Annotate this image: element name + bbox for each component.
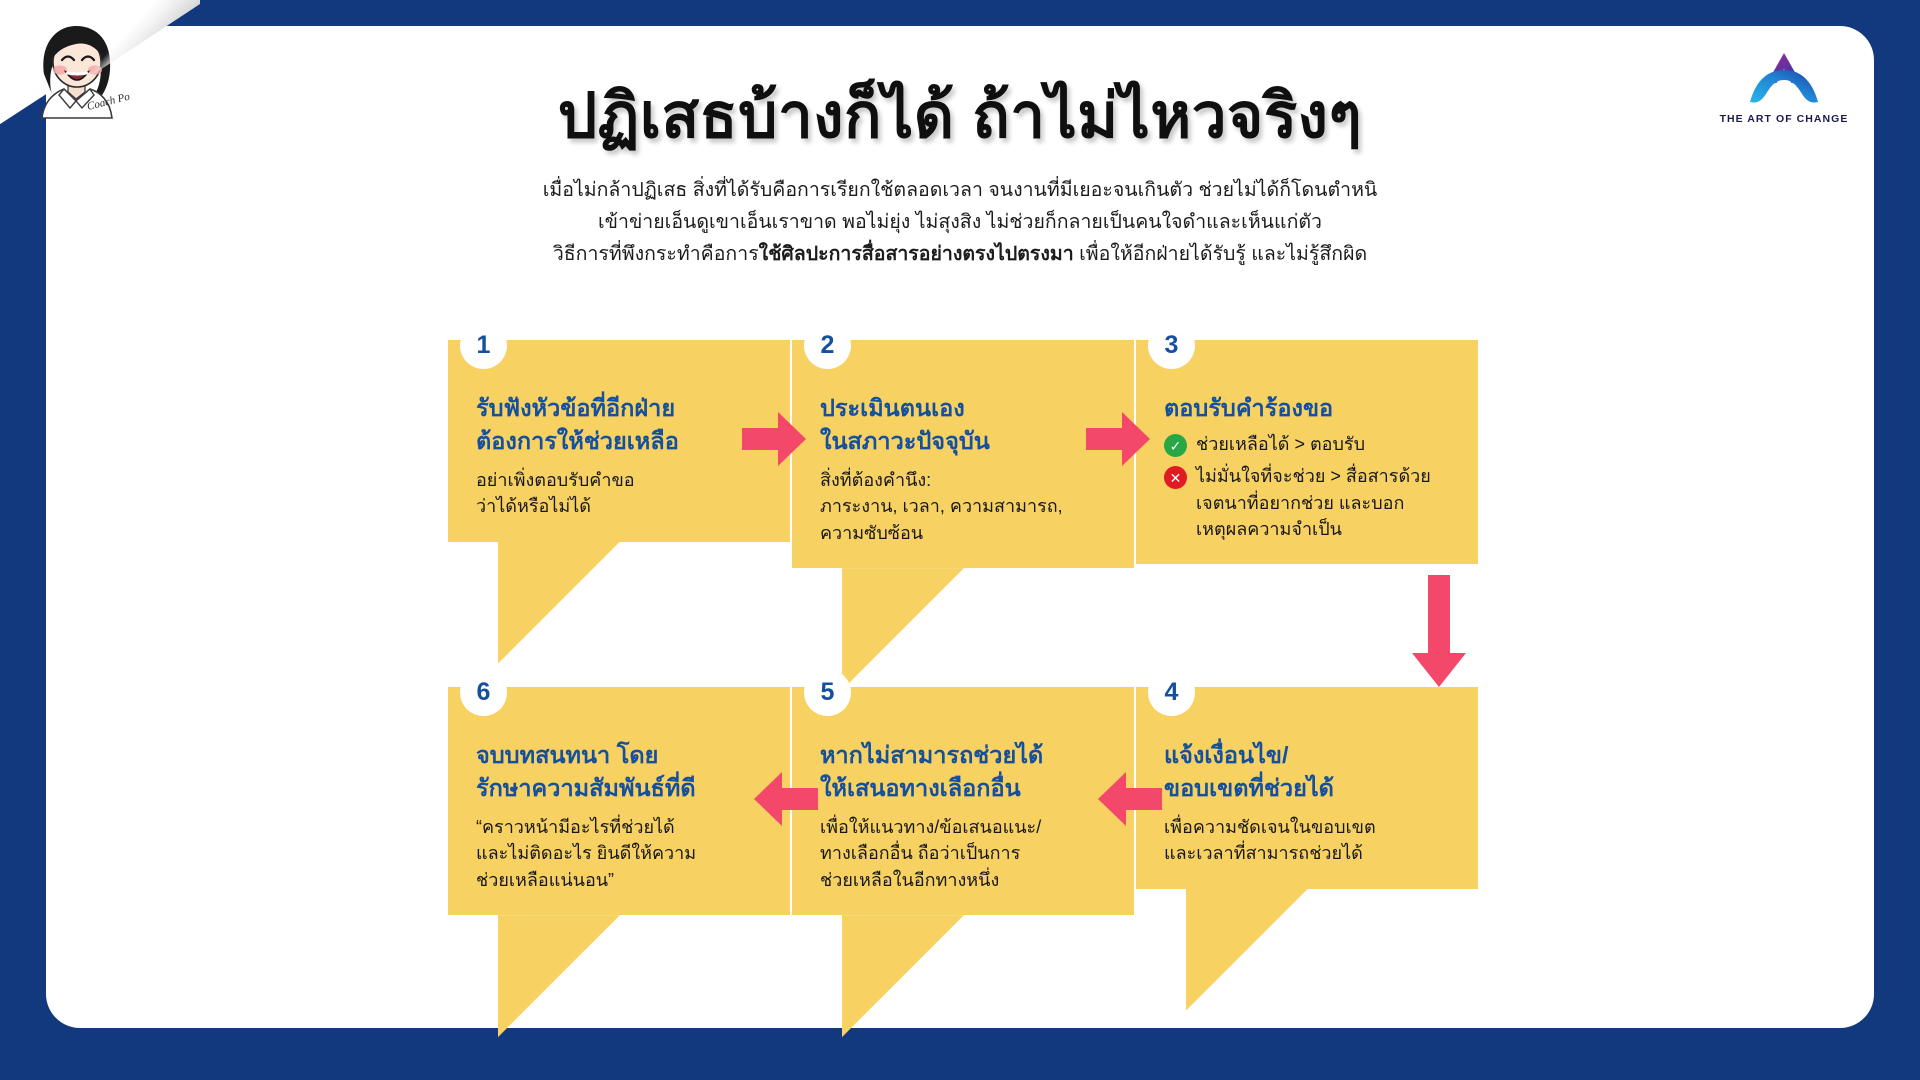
step-title-5-line-2: ให้เสนอทางเลือกอื่น [820, 772, 1110, 805]
step-title-2: ประเมินตนเอง ในสภาวะปัจจุบัน [820, 392, 1110, 459]
step-number-badge-1: 1 [460, 322, 507, 369]
step-body-5-line-2: ทางเลือกอื่น ถือว่าเป็นการ [820, 840, 1110, 866]
step-body-5-line-1: เพื่อให้แนวทาง/ข้อเสนอแนะ/ [820, 814, 1110, 840]
step-3-bullet-ok: ✓ ช่วยเหลือได้ > ตอบรับ [1164, 431, 1454, 457]
step-title-2-line-1: ประเมินตนเอง [820, 392, 1110, 425]
step-flow-diagram: 1 รับฟังหัวข้อที่อีกฝ่าย ต้องการให้ช่วยเ… [0, 0, 1920, 1080]
step-body-4-line-2: และเวลาที่สามารถช่วยได้ [1164, 840, 1454, 866]
step-title-4: แจ้งเงื่อนไข/ ขอบเขตที่ช่วยได้ [1164, 739, 1454, 806]
step-3-bullet-no-text: ไม่มั่นใจที่จะช่วย > สื่อสารด้วยเจตนาที่… [1196, 463, 1454, 541]
step-3-bullet-no: ✕ ไม่มั่นใจที่จะช่วย > สื่อสารด้วยเจตนาท… [1164, 463, 1454, 541]
step-title-1-line-2: ต้องการให้ช่วยเหลือ [476, 425, 766, 458]
coach-avatar: Coach Po [0, 0, 200, 128]
step-number-badge-5: 5 [804, 669, 851, 716]
arrow-step4-to-step5-icon [1098, 772, 1162, 826]
step-body-2-line-2: ภาระงาน, เวลา, ความสามารถ, [820, 493, 1110, 519]
speech-bubble-tail-4 [1186, 889, 1308, 1011]
step-body-2: สิ่งที่ต้องคำนึง: ภาระงาน, เวลา, ความสาม… [820, 467, 1110, 546]
step-title-3: ตอบรับคำร้องขอ [1164, 392, 1454, 425]
step-body-5: เพื่อให้แนวทาง/ข้อเสนอแนะ/ ทางเลือกอื่น … [820, 814, 1110, 893]
step-3-bullet-ok-text: ช่วยเหลือได้ > ตอบรับ [1196, 431, 1365, 457]
step-number-badge-4: 4 [1148, 669, 1195, 716]
step-title-2-line-2: ในสภาวะปัจจุบัน [820, 425, 1110, 458]
step-card-5: 5 หากไม่สามารถช่วยได้ ให้เสนอทางเลือกอื่… [792, 687, 1134, 915]
step-number-badge-2: 2 [804, 322, 851, 369]
brand-logo: THE ART OF CHANGE [1704, 50, 1864, 125]
step-body-6-line-2: และไม่ติดอะไร ยินดีให้ความ [476, 840, 766, 866]
step-title-4-line-1: แจ้งเงื่อนไข/ [1164, 739, 1454, 772]
step-card-4: 4 แจ้งเงื่อนไข/ ขอบเขตที่ช่วยได้ เพื่อคว… [1136, 687, 1478, 889]
cross-circle-icon: ✕ [1164, 466, 1187, 489]
step-title-5-line-1: หากไม่สามารถช่วยได้ [820, 739, 1110, 772]
speech-bubble-tail-6 [498, 915, 620, 1037]
step-title-3-line-1: ตอบรับคำร้องขอ [1164, 392, 1454, 425]
step-card-2: 2 ประเมินตนเอง ในสภาวะปัจจุบัน สิ่งที่ต้… [792, 340, 1134, 568]
step-body-4: เพื่อความชัดเจนในขอบเขต และเวลาที่สามารถ… [1164, 814, 1454, 867]
step-title-6-line-1: จบบทสนทนา โดย [476, 739, 766, 772]
step-title-4-line-2: ขอบเขตที่ช่วยได้ [1164, 772, 1454, 805]
art-of-change-a-icon [1744, 50, 1824, 108]
step-body-1-line-1: อย่าเพิ่งตอบรับคำขอ [476, 467, 766, 493]
step-card-3: 3 ตอบรับคำร้องขอ ✓ ช่วยเหลือได้ > ตอบรับ… [1136, 340, 1478, 564]
step-card-1: 1 รับฟังหัวข้อที่อีกฝ่าย ต้องการให้ช่วยเ… [448, 340, 790, 542]
step-body-2-line-1: สิ่งที่ต้องคำนึง: [820, 467, 1110, 493]
step-body-6-line-3: ช่วยเหลือแน่นอน” [476, 867, 766, 893]
step-body-4-line-1: เพื่อความชัดเจนในขอบเขต [1164, 814, 1454, 840]
step-title-1-line-1: รับฟังหัวข้อที่อีกฝ่าย [476, 392, 766, 425]
check-circle-icon: ✓ [1164, 434, 1187, 457]
arrow-step1-to-step2-icon [742, 412, 806, 466]
arrow-step5-to-step6-icon [754, 772, 818, 826]
step-title-1: รับฟังหัวข้อที่อีกฝ่าย ต้องการให้ช่วยเหล… [476, 392, 766, 459]
step-body-1-line-2: ว่าได้หรือไม่ได้ [476, 493, 766, 519]
arrow-step2-to-step3-icon [1086, 412, 1150, 466]
step-body-6: “คราวหน้ามีอะไรที่ช่วยได้ และไม่ติดอะไร … [476, 814, 766, 893]
step-title-5: หากไม่สามารถช่วยได้ ให้เสนอทางเลือกอื่น [820, 739, 1110, 806]
step-body-1: อย่าเพิ่งตอบรับคำขอ ว่าได้หรือไม่ได้ [476, 467, 766, 520]
step-body-5-line-3: ช่วยเหลือในอีกทางหนึ่ง [820, 867, 1110, 893]
arrow-step3-to-step4-icon [1412, 575, 1466, 687]
step-card-6: 6 จบบทสนทนา โดย รักษาความสัมพันธ์ที่ดี “… [448, 687, 790, 915]
step-body-2-line-3: ความซับซ้อน [820, 520, 1110, 546]
step-number-badge-3: 3 [1148, 322, 1195, 369]
step-number-badge-6: 6 [460, 669, 507, 716]
brand-logo-text: THE ART OF CHANGE [1704, 113, 1864, 125]
speech-bubble-tail-1 [498, 542, 620, 664]
step-title-6-line-2: รักษาความสัมพันธ์ที่ดี [476, 772, 766, 805]
step-title-6: จบบทสนทนา โดย รักษาความสัมพันธ์ที่ดี [476, 739, 766, 806]
speech-bubble-tail-2 [842, 568, 964, 690]
step-body-6-line-1: “คราวหน้ามีอะไรที่ช่วยได้ [476, 814, 766, 840]
speech-bubble-tail-5 [842, 915, 964, 1037]
page-curl-corner: Coach Po [0, 0, 200, 128]
